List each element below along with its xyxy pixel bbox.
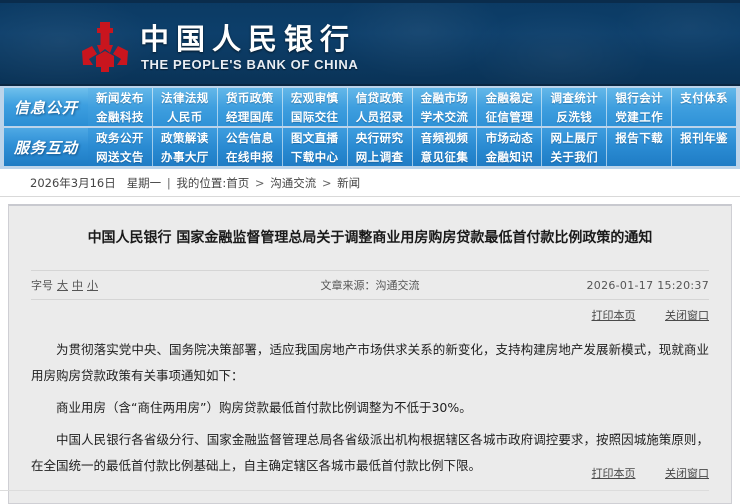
article-paragraph-2: 商业用房（含“商住两用房”）购房贷款最低首付款比例调整为不低于30%。 [31,395,709,421]
breadcrumb-date: 2026年3月16日 [30,176,116,190]
nav-item-report-download[interactable]: 报告下载 [607,128,672,147]
font-size-control: 字号 大 中 小 [31,277,98,293]
nav-item-service-hall[interactable]: 办事大厅 [153,147,218,166]
nav-item-download-center[interactable]: 下载中心 [283,147,348,166]
nav-item-international-exchange[interactable]: 国际交往 [283,107,348,126]
nav-item-periodical-yearbook[interactable]: 报刊年鉴 [672,128,736,147]
article-actions-top: 打印本页 关闭窗口 [31,307,709,323]
print-page-link-top[interactable]: 打印本页 [592,309,636,322]
print-page-link-bottom[interactable]: 打印本页 [592,467,636,480]
nav-item-government-affairs[interactable]: 政务公开 [88,128,153,147]
article-actions-bottom: 打印本页 关闭窗口 [566,465,710,481]
nav-item-about-us[interactable]: 关于我们 [542,147,607,166]
article-paragraph-1: 为贯彻落实党中央、国务院决策部署，适应我国房地产市场供求关系的新变化，支持构建房… [31,337,709,389]
close-window-link-bottom[interactable]: 关闭窗口 [665,467,709,480]
nav-section-label-service-interaction[interactable]: 服务互动 [4,128,88,166]
article-panel: 中国人民银行 国家金融监督管理总局关于调整商业用房购房贷款最低首付款比例政策的通… [8,204,732,504]
site-header-banner: 中国人民银行 THE PEOPLE'S BANK OF CHINA [0,0,740,86]
bottom-divider [0,490,709,491]
nav-item-live-broadcast[interactable]: 图文直播 [283,128,348,147]
nav-item-laws-regulations[interactable]: 法律法规 [153,88,218,107]
font-size-small-button[interactable]: 小 [87,277,98,293]
nav-item-empty-b [607,147,672,166]
breadcrumb-link-home[interactable]: 首页 [226,176,249,190]
nav-item-monetary-policy[interactable]: 货币政策 [218,88,283,107]
nav-item-document-delivery[interactable]: 网送文告 [88,147,153,166]
nav-item-payment-system[interactable]: 支付体系 [672,88,736,107]
page-title: 中国人民银行 国家金融监督管理总局关于调整商业用房购房贷款最低首付款比例政策的通… [37,228,703,248]
nav-item-rmb[interactable]: 人民币 [153,107,218,126]
nav-item-online-exhibition[interactable]: 网上展厅 [542,128,607,147]
nav-item-anti-money-laundering[interactable]: 反洗钱 [542,107,607,126]
nav-section-information-disclosure: 信息公开 新闻发布 法律法规 货币政策 宏观审慎 信贷政策 金融市场 金融稳定 … [4,88,736,126]
nav-item-party-building[interactable]: 党建工作 [607,107,672,126]
breadcrumb-separator-1: > [255,176,265,190]
bank-name-cn: 中国人民银行 [140,22,356,56]
nav-item-financial-market[interactable]: 金融市场 [413,88,478,107]
breadcrumb-separator-2: > [322,176,332,190]
nav-item-credit-reference[interactable]: 征信管理 [477,107,542,126]
nav-item-news-release[interactable]: 新闻发布 [88,88,153,107]
main-navigation: 信息公开 新闻发布 法律法规 货币政策 宏观审慎 信贷政策 金融市场 金融稳定 … [0,86,740,169]
close-window-link-top[interactable]: 关闭窗口 [665,309,709,322]
nav-item-online-declaration[interactable]: 在线申报 [218,147,283,166]
nav-item-academic-exchange[interactable]: 学术交流 [413,107,478,126]
nav-item-market-dynamics[interactable]: 市场动态 [477,128,542,147]
nav-item-online-survey[interactable]: 网上调查 [348,147,413,166]
nav-item-macro-prudential[interactable]: 宏观审慎 [283,88,348,107]
nav-item-credit-policy[interactable]: 信贷政策 [348,88,413,107]
breadcrumb: 2026年3月16日 星期一 | 我的位置:首页 > 沟通交流 > 新闻 [0,175,360,191]
article-meta-bar: 字号 大 中 小 文章来源：沟通交流 2026-01-17 15:20:37 [31,270,709,300]
font-size-label: 字号 [31,277,53,293]
nav-section-label-information-disclosure[interactable]: 信息公开 [4,88,88,126]
breadcrumb-link-communication[interactable]: 沟通交流 [270,176,316,190]
nav-item-bank-accounting[interactable]: 银行会计 [607,88,672,107]
font-size-large-button[interactable]: 大 [57,277,68,293]
nav-item-recruitment[interactable]: 人员招录 [348,107,413,126]
nav-item-financial-stability[interactable]: 金融稳定 [477,88,542,107]
nav-item-financial-knowledge[interactable]: 金融知识 [477,147,542,166]
nav-item-policy-interpretation[interactable]: 政策解读 [153,128,218,147]
nav-item-fintech[interactable]: 金融科技 [88,107,153,126]
breadcrumb-divider: | [167,176,171,190]
breadcrumb-location-label: 我的位置: [176,176,226,190]
nav-item-survey-statistics[interactable]: 调查统计 [542,88,607,107]
breadcrumb-link-news[interactable]: 新闻 [337,176,360,190]
nav-item-announcements[interactable]: 公告信息 [218,128,283,147]
pboc-emblem-icon [76,20,134,76]
font-size-medium-button[interactable]: 中 [72,277,83,293]
nav-item-empty-c [672,147,736,166]
bank-name-en: THE PEOPLE'S BANK OF CHINA [141,57,358,72]
nav-item-empty-a [672,107,736,126]
breadcrumb-bar: 2026年3月16日 星期一 | 我的位置:首页 > 沟通交流 > 新闻 [0,169,740,197]
nav-item-feedback-collection[interactable]: 意见征集 [413,147,478,166]
nav-section-service-interaction: 服务互动 政务公开 政策解读 公告信息 图文直播 央行研究 音频视频 市场动态 … [4,128,736,166]
nav-item-central-bank-research[interactable]: 央行研究 [348,128,413,147]
nav-item-audio-video[interactable]: 音频视频 [413,128,478,147]
nav-item-treasury-manager[interactable]: 经理国库 [218,107,283,126]
breadcrumb-weekday: 星期一 [127,176,162,190]
article-source-value: 沟通交流 [376,279,420,292]
article-datetime: 2026-01-17 15:20:37 [586,279,709,292]
article-source-label: 文章来源： [321,279,376,292]
article-body: 为贯彻落实党中央、国务院决策部署，适应我国房地产市场供求关系的新变化，支持构建房… [31,337,709,479]
